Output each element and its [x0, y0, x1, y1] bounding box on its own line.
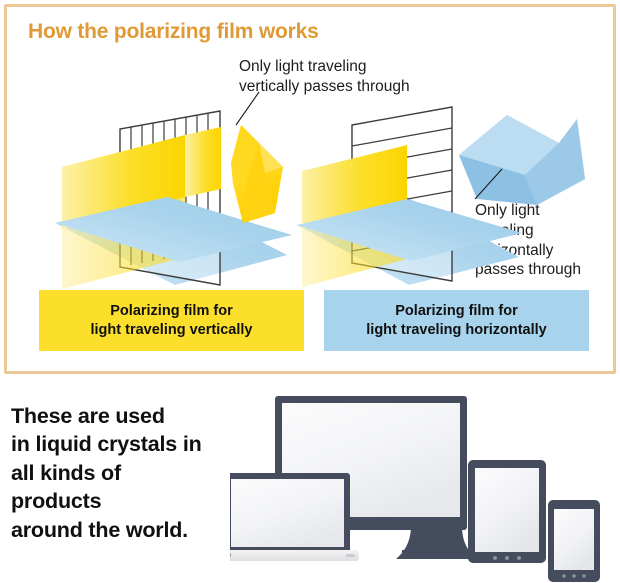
left-yellow-beam: [59, 167, 225, 299]
caption-horizontal-film: Polarizing film for light traveling hori…: [324, 290, 589, 351]
right-yellow-sheet-blocked: [302, 145, 407, 287]
left-blue-sheet: [55, 197, 292, 262]
vertical-slit-polarizer: [120, 111, 220, 285]
device-laptop: [230, 473, 359, 561]
arrow-horizontal-pass: [459, 115, 585, 205]
horizontal-slit-polarizer: [352, 107, 452, 281]
left-blue-beam-blocked: [55, 193, 287, 285]
left-scene: [55, 92, 292, 299]
left-yellow-sheet: [62, 135, 185, 289]
leader-line-vertical: [236, 92, 259, 125]
annotation-vertical-pass: Only light traveling vertically passes t…: [239, 57, 410, 97]
device-smartphone: [548, 500, 600, 582]
arrow-vertical-pass: [231, 125, 283, 223]
bottom-section: These are used in liquid crystals in all…: [0, 378, 620, 583]
polarizing-film-panel: How the polarizing film works Only light…: [4, 4, 616, 374]
page-title: How the polarizing film works: [28, 20, 319, 44]
device-illustration: [230, 378, 620, 583]
annotation-horizontal-pass: Only light traveling horizontally passes…: [475, 201, 581, 280]
left-yellow-exit: [185, 127, 221, 197]
caption-vertical-film: Polarizing film for light traveling vert…: [39, 290, 304, 351]
leader-line-horizontal: [475, 169, 502, 199]
device-tablet: [468, 460, 546, 563]
bottom-description: These are used in liquid crystals in all…: [11, 402, 202, 544]
